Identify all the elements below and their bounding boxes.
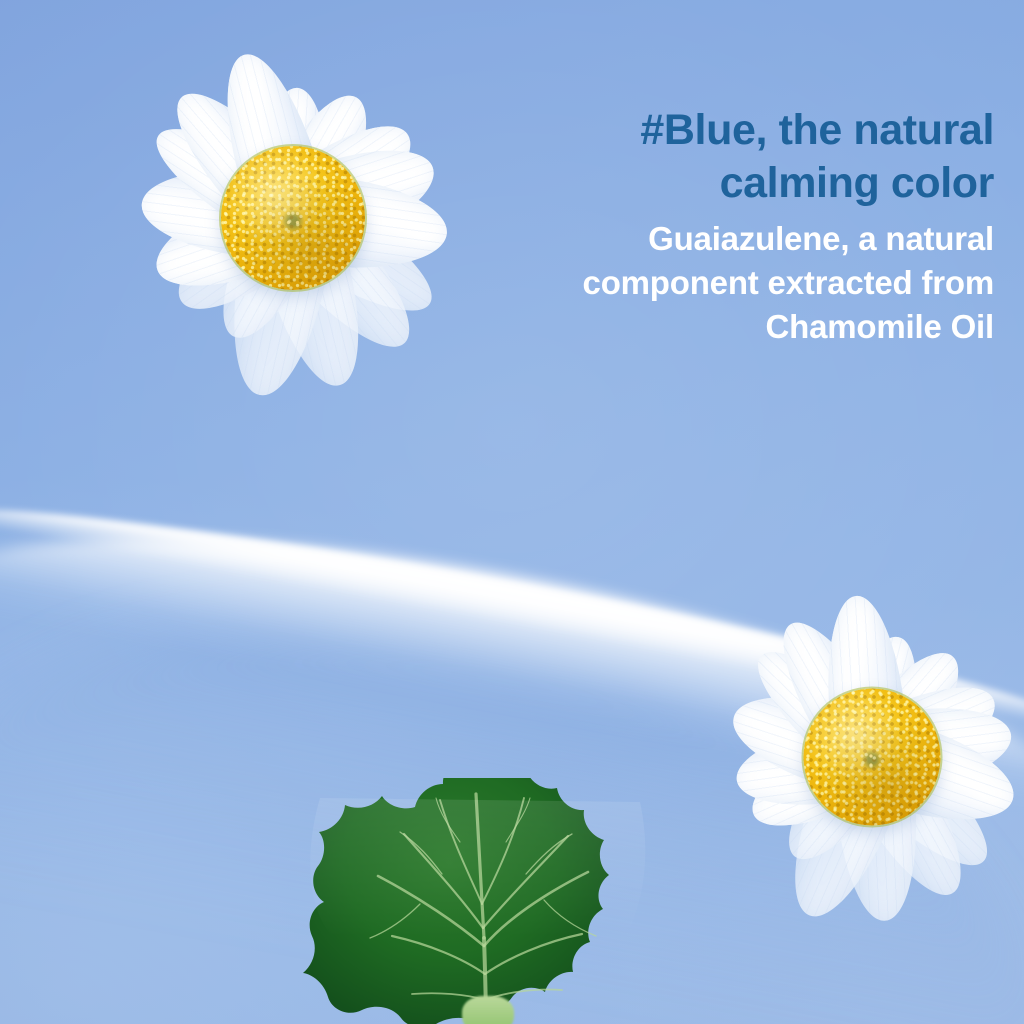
marketing-copy: #Blue, the natural calming color Guaiazu… bbox=[524, 104, 994, 349]
chamomile-flower-top-left bbox=[88, 13, 498, 423]
chamomile-flower-bottom-right bbox=[677, 562, 1024, 952]
promo-banner: #Blue, the natural calming color Guaiazu… bbox=[0, 0, 1024, 1024]
headline-line-1: #Blue, the natural bbox=[524, 104, 994, 157]
chamomile-leaf bbox=[300, 778, 672, 1024]
flower-disc bbox=[221, 146, 365, 290]
headline: #Blue, the natural calming color bbox=[524, 104, 994, 210]
leaf-shape bbox=[300, 778, 672, 1024]
disc-floret-texture bbox=[804, 689, 941, 826]
headline-line-2: calming color bbox=[524, 157, 994, 210]
body-copy: Guaiazulene, a natural component extract… bbox=[524, 217, 994, 349]
body-line-3: Chamomile Oil bbox=[524, 305, 994, 349]
disc-floret-texture bbox=[221, 146, 365, 290]
leaf-stem-node bbox=[462, 996, 514, 1024]
flower-disc bbox=[804, 689, 941, 826]
body-line-2: component extracted from bbox=[524, 261, 994, 305]
body-line-1: Guaiazulene, a natural bbox=[524, 217, 994, 261]
